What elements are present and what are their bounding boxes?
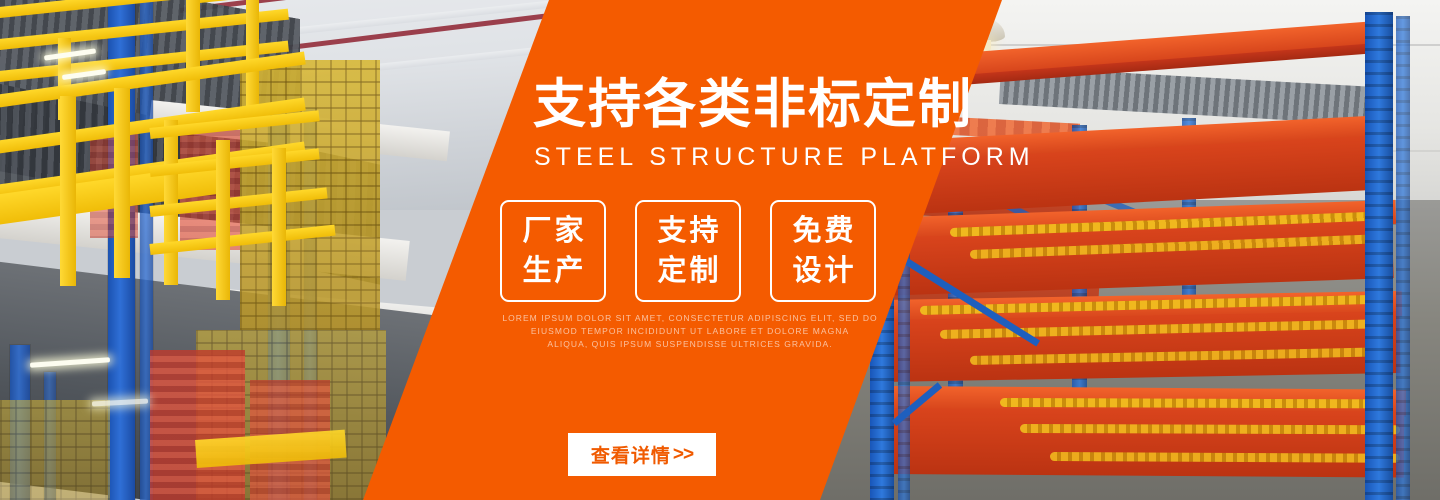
feature-badge-customization: 支持 定制 <box>635 200 741 302</box>
description-line-1: LOREM IPSUM DOLOR SIT AMET, CONSECTETUR … <box>480 312 900 325</box>
view-details-button[interactable]: 查看详情 >> <box>568 433 716 476</box>
badge-line-2: 生产 <box>519 251 586 291</box>
subtitle: STEEL STRUCTURE PLATFORM <box>534 143 1035 172</box>
feature-badge-free-design: 免费 设计 <box>770 200 876 302</box>
feature-badge-manufacturer: 厂家 生产 <box>500 200 606 302</box>
page-title: 支持各类非标定制 <box>533 74 973 136</box>
badge-line-2: 设计 <box>789 251 856 291</box>
feature-badge-list: 厂家 生产 支持 定制 免费 设计 <box>500 200 876 302</box>
badge-line-1: 厂家 <box>519 211 586 251</box>
badge-line-1: 支持 <box>654 211 721 251</box>
promo-banner: 支持各类非标定制 STEEL STRUCTURE PLATFORM 厂家 生产 … <box>0 0 1440 500</box>
banner-content: 支持各类非标定制 STEEL STRUCTURE PLATFORM 厂家 生产 … <box>0 0 1440 500</box>
description-text: LOREM IPSUM DOLOR SIT AMET, CONSECTETUR … <box>480 312 900 352</box>
description-line-3: ALIQUA, QUIS IPSUM SUSPENDISSE ULTRICES … <box>480 338 900 351</box>
description-line-2: EIUSMOD TEMPOR INCIDIDUNT UT LABORE ET D… <box>480 325 900 338</box>
cta-label: 查看详情 <box>591 441 671 468</box>
badge-line-1: 免费 <box>789 211 856 251</box>
badge-line-2: 定制 <box>654 251 721 291</box>
chevron-right-icon: >> <box>673 444 693 466</box>
